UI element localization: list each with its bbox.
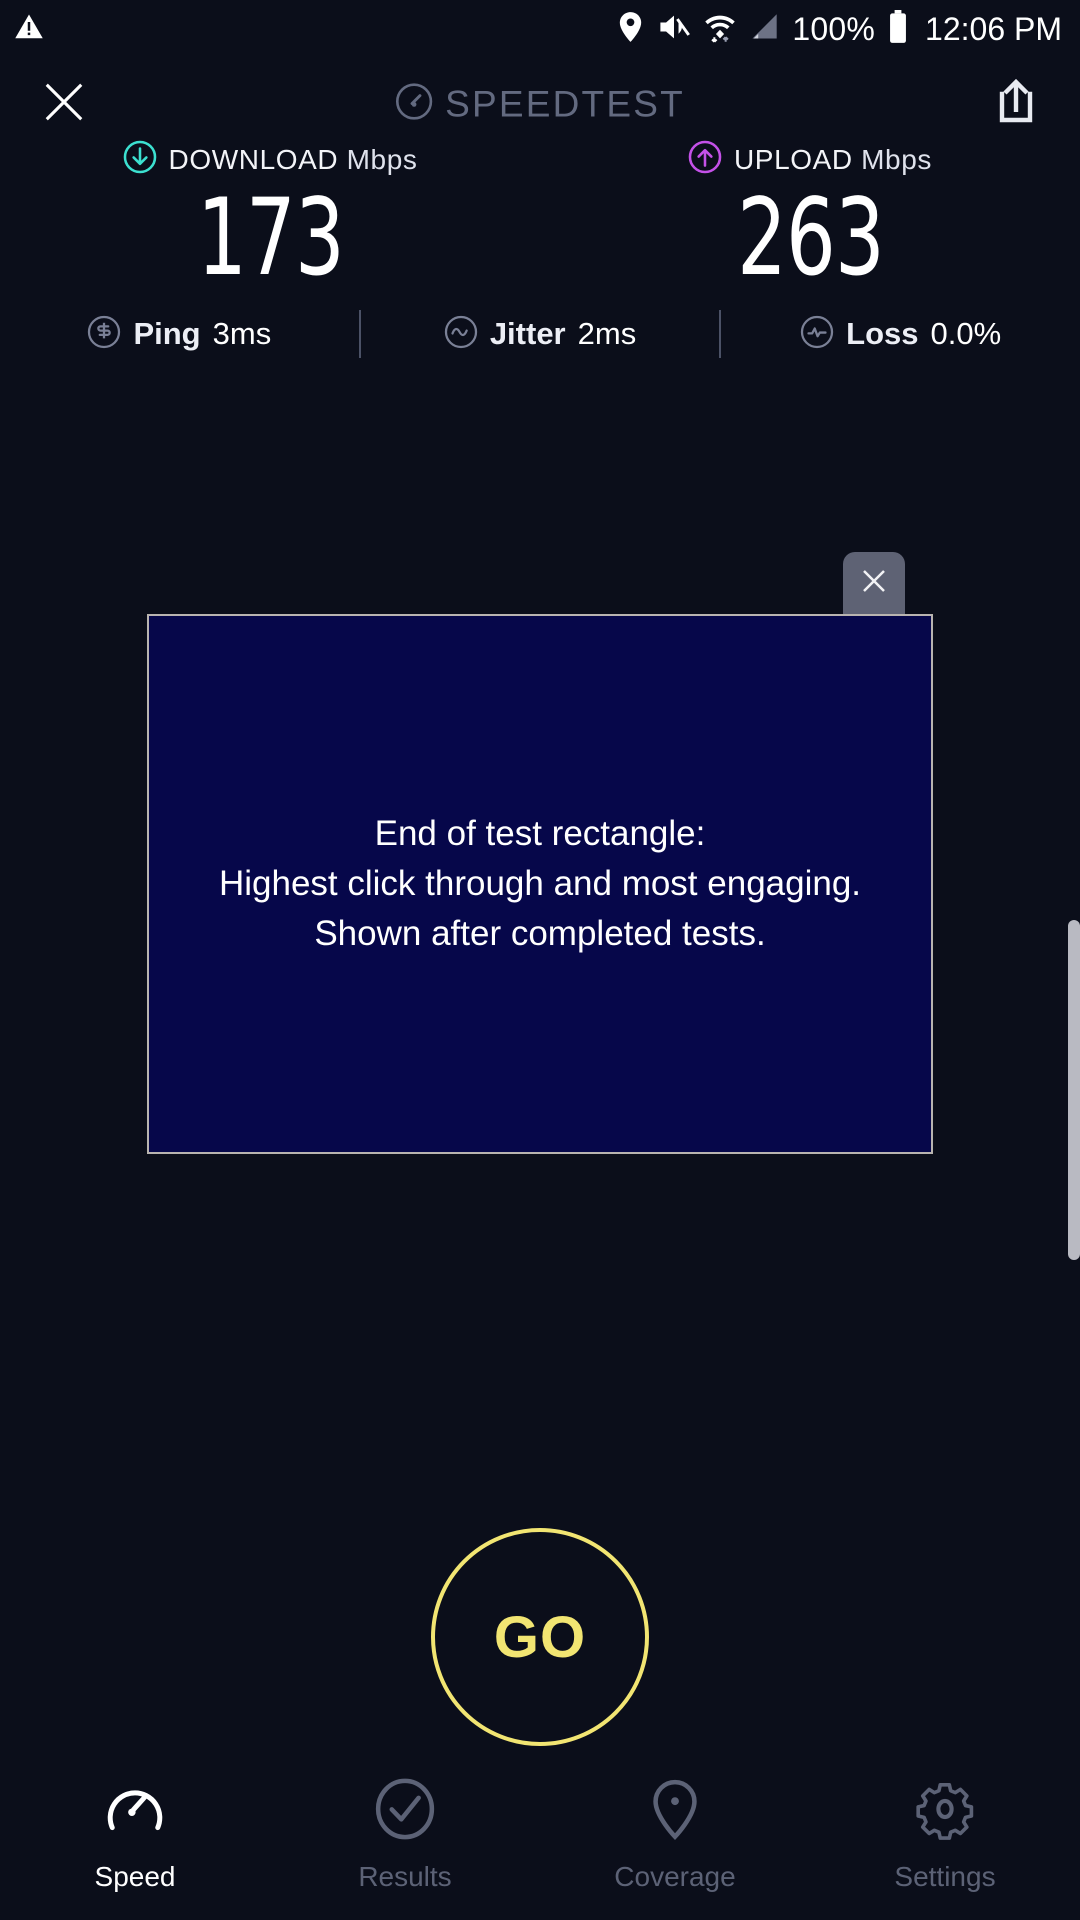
advertisement: End of test rectangle: Highest click thr… (147, 614, 933, 1154)
submetrics-row: Ping 3ms Jitter 2ms Loss 0.0 (0, 300, 1080, 368)
check-circle-icon (374, 1778, 436, 1845)
nav-item-coverage[interactable]: Coverage (540, 1750, 810, 1920)
ad-line-2: Highest click through and most engaging. (219, 859, 861, 909)
download-arrow-icon (123, 140, 157, 179)
status-bar: 100% 12:06 PM (0, 0, 1080, 58)
upload-label: UPLOAD Mbps (734, 144, 932, 176)
ad-line-1: End of test rectangle: (219, 809, 861, 859)
upload-value: 263 (737, 185, 884, 291)
speed-results: DOWNLOAD Mbps 173 UPLOAD Mbps 263 (0, 140, 1080, 291)
nav-label-settings: Settings (894, 1861, 995, 1893)
share-icon (994, 78, 1038, 131)
upload-header: UPLOAD Mbps (688, 140, 932, 179)
close-test-button[interactable] (36, 76, 92, 132)
page-scrollbar[interactable] (1068, 920, 1080, 1260)
brand-logo: SPEEDTEST (395, 83, 685, 126)
ping-icon (87, 315, 121, 354)
upload-arrow-icon (688, 140, 722, 179)
ad-text: End of test rectangle: Highest click thr… (219, 809, 861, 958)
battery-percent-label: 100% (792, 13, 875, 45)
upload-metric: UPLOAD Mbps 263 (540, 140, 1080, 291)
download-metric: DOWNLOAD Mbps 173 (0, 140, 540, 291)
download-header: DOWNLOAD Mbps (123, 140, 418, 179)
loss-metric: Loss 0.0% (721, 315, 1080, 354)
jitter-label: Jitter (490, 316, 566, 352)
close-icon (859, 566, 889, 601)
ad-line-3: Shown after completed tests. (219, 909, 861, 959)
cellular-signal-icon (749, 12, 779, 47)
jitter-value: 2ms (578, 316, 637, 352)
loss-value: 0.0% (931, 316, 1002, 352)
speedometer-icon (395, 83, 433, 126)
nav-label-coverage: Coverage (614, 1861, 735, 1893)
speedtest-app-screen: 100% 12:06 PM (0, 0, 1080, 1920)
speedometer-icon (104, 1778, 166, 1845)
nav-label-results: Results (358, 1861, 451, 1893)
jitter-metric: Jitter 2ms (361, 315, 720, 354)
close-icon (41, 79, 87, 130)
jitter-icon (444, 315, 478, 354)
download-value: 173 (197, 185, 344, 291)
status-bar-right: 100% 12:06 PM (617, 10, 1062, 49)
gear-icon (914, 1778, 976, 1845)
bottom-navigation: Speed Results Coverage (0, 1750, 1080, 1920)
warning-triangle-icon (14, 12, 44, 47)
nav-label-speed: Speed (95, 1861, 176, 1893)
loss-icon (800, 315, 834, 354)
volume-mute-icon (657, 12, 691, 47)
nav-item-speed[interactable]: Speed (0, 1750, 270, 1920)
ping-value: 3ms (213, 316, 272, 352)
ping-metric: Ping 3ms (0, 315, 359, 354)
location-pin-icon (644, 1778, 706, 1845)
ad-close-button[interactable] (843, 552, 905, 614)
battery-full-icon (888, 10, 908, 49)
download-label: DOWNLOAD Mbps (169, 144, 418, 176)
status-time: 12:06 PM (925, 13, 1062, 45)
go-button-label: GO (494, 1604, 586, 1671)
wifi-icon (704, 10, 736, 49)
location-pin-icon (617, 11, 644, 48)
share-button[interactable] (988, 76, 1044, 132)
brand-title: SPEEDTEST (445, 83, 685, 125)
app-header: SPEEDTEST (0, 58, 1080, 150)
ad-creative[interactable]: End of test rectangle: Highest click thr… (147, 614, 933, 1154)
ping-label: Ping (133, 316, 200, 352)
nav-item-settings[interactable]: Settings (810, 1750, 1080, 1920)
status-bar-left (14, 12, 44, 47)
nav-item-results[interactable]: Results (270, 1750, 540, 1920)
loss-label: Loss (846, 316, 918, 352)
go-button[interactable]: GO (431, 1528, 649, 1746)
